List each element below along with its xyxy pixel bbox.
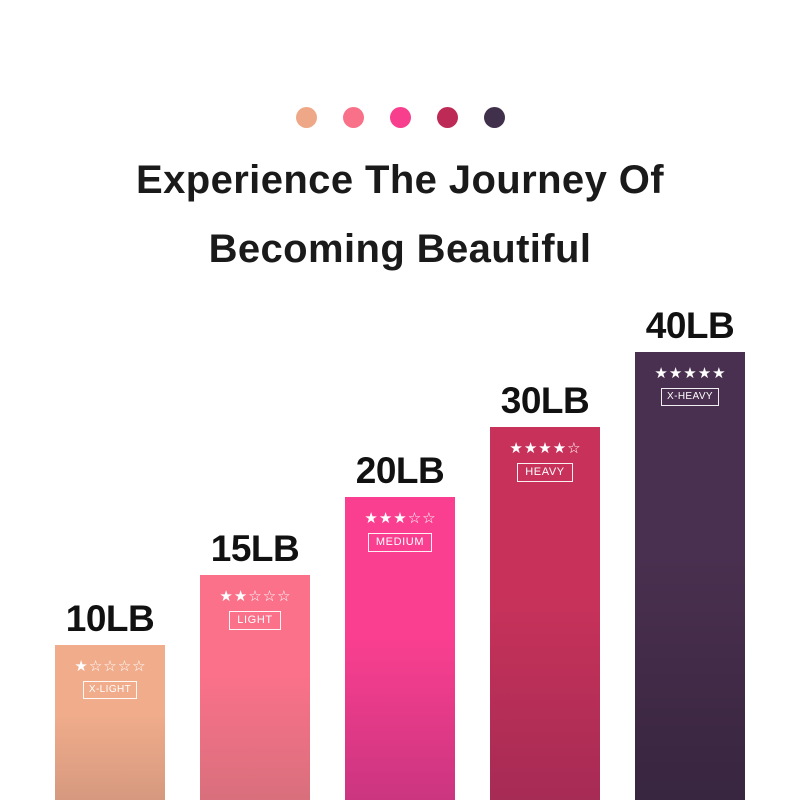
strength-badge-15lb: LIGHT bbox=[229, 611, 280, 630]
rating-stars-40lb: ★★★★★ bbox=[654, 366, 725, 381]
bar-content-30lb: ★★★★☆HEAVY bbox=[490, 441, 600, 482]
bar-10lb[interactable]: ★☆☆☆☆X-LIGHT bbox=[55, 645, 165, 800]
star-empty-icon: ☆ bbox=[103, 659, 116, 674]
strength-badge-40lb: X-HEAVY bbox=[661, 388, 719, 406]
star-empty-icon: ☆ bbox=[567, 441, 580, 456]
bar-content-10lb: ★☆☆☆☆X-LIGHT bbox=[55, 659, 165, 699]
star-empty-icon: ☆ bbox=[422, 511, 435, 526]
star-filled-icon: ★ bbox=[524, 441, 537, 456]
star-filled-icon: ★ bbox=[538, 441, 551, 456]
bar-fill-30lb bbox=[490, 427, 600, 800]
bar-label-30lb: 30LB bbox=[501, 382, 589, 419]
strength-badge-20lb: MEDIUM bbox=[368, 533, 432, 552]
resistance-band-bar-chart: 10LB★☆☆☆☆X-LIGHT15LB★★☆☆☆LIGHT20LB★★★☆☆M… bbox=[0, 0, 800, 800]
bar-40lb[interactable]: ★★★★★X-HEAVY bbox=[635, 352, 745, 800]
bar-30lb[interactable]: ★★★★☆HEAVY bbox=[490, 427, 600, 800]
bar-label-15lb: 15LB bbox=[211, 530, 299, 567]
bar-20lb[interactable]: ★★★☆☆MEDIUM bbox=[345, 497, 455, 800]
bar-15lb[interactable]: ★★☆☆☆LIGHT bbox=[200, 575, 310, 800]
star-empty-icon: ☆ bbox=[408, 511, 421, 526]
strength-badge-30lb: HEAVY bbox=[517, 463, 572, 482]
bar-label-10lb: 10LB bbox=[66, 600, 154, 637]
promo-infographic: Experience The Journey Of Becoming Beaut… bbox=[0, 0, 800, 800]
star-filled-icon: ★ bbox=[698, 366, 711, 381]
rating-stars-15lb: ★★☆☆☆ bbox=[219, 589, 290, 604]
star-filled-icon: ★ bbox=[509, 441, 522, 456]
bar-content-15lb: ★★☆☆☆LIGHT bbox=[200, 589, 310, 630]
rating-stars-30lb: ★★★★☆ bbox=[509, 441, 580, 456]
star-filled-icon: ★ bbox=[553, 441, 566, 456]
star-filled-icon: ★ bbox=[74, 659, 87, 674]
bar-fill-40lb bbox=[635, 352, 745, 800]
rating-stars-20lb: ★★★☆☆ bbox=[364, 511, 435, 526]
rating-stars-10lb: ★☆☆☆☆ bbox=[74, 659, 145, 674]
bar-label-40lb: 40LB bbox=[646, 307, 734, 344]
star-empty-icon: ☆ bbox=[263, 589, 276, 604]
bar-content-40lb: ★★★★★X-HEAVY bbox=[635, 366, 745, 406]
star-empty-icon: ☆ bbox=[248, 589, 261, 604]
star-filled-icon: ★ bbox=[234, 589, 247, 604]
star-filled-icon: ★ bbox=[683, 366, 696, 381]
bar-group-20lb: 20LB★★★☆☆MEDIUM bbox=[345, 497, 455, 800]
star-empty-icon: ☆ bbox=[118, 659, 131, 674]
star-filled-icon: ★ bbox=[669, 366, 682, 381]
star-filled-icon: ★ bbox=[379, 511, 392, 526]
star-filled-icon: ★ bbox=[712, 366, 725, 381]
strength-badge-10lb: X-LIGHT bbox=[83, 681, 137, 699]
bar-group-15lb: 15LB★★☆☆☆LIGHT bbox=[200, 575, 310, 800]
star-empty-icon: ☆ bbox=[89, 659, 102, 674]
star-filled-icon: ★ bbox=[393, 511, 406, 526]
star-empty-icon: ☆ bbox=[277, 589, 290, 604]
star-filled-icon: ★ bbox=[654, 366, 667, 381]
star-filled-icon: ★ bbox=[219, 589, 232, 604]
bar-group-30lb: 30LB★★★★☆HEAVY bbox=[490, 427, 600, 800]
bar-label-20lb: 20LB bbox=[356, 452, 444, 489]
bar-content-20lb: ★★★☆☆MEDIUM bbox=[345, 511, 455, 552]
star-empty-icon: ☆ bbox=[132, 659, 145, 674]
star-filled-icon: ★ bbox=[364, 511, 377, 526]
bar-group-10lb: 10LB★☆☆☆☆X-LIGHT bbox=[55, 645, 165, 800]
bar-group-40lb: 40LB★★★★★X-HEAVY bbox=[635, 352, 745, 800]
